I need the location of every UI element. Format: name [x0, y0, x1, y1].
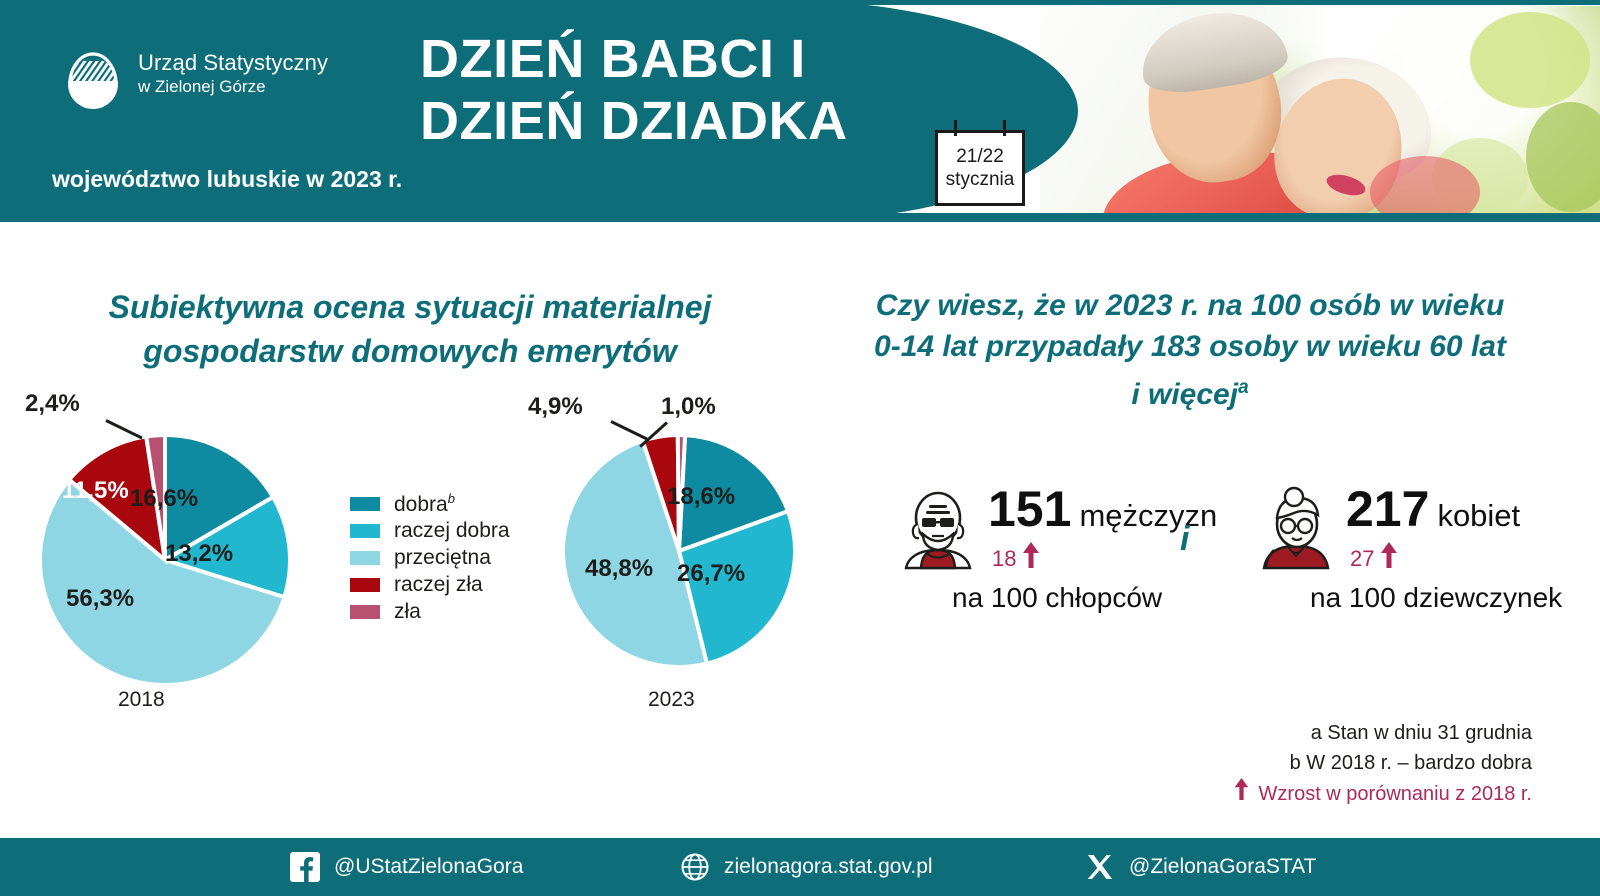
stat-men-sub: na 100 chłopców	[952, 582, 1162, 614]
right-panel-title-line3-text: i więcej	[1131, 378, 1238, 411]
pie-label-zła: 1,0%	[661, 393, 716, 421]
elderly-couple-photo	[1040, 6, 1600, 216]
right-panel-title-line2: 0-14 lat przypadały 183 osoby w wieku 60…	[840, 326, 1540, 367]
pie-chart-2018: 16,6%13,2%56,3%11,5%2,4%	[40, 435, 290, 685]
pie-label-przeciętna: 48,8%	[585, 555, 653, 583]
legend-swatch-icon	[350, 551, 380, 565]
pie-label-przeciętna: 56,3%	[66, 585, 134, 613]
footnote-marker-a: a	[1238, 377, 1249, 398]
legend-item-1: raczej dobra	[350, 517, 510, 544]
header-bottom-rule	[0, 213, 1600, 222]
left-panel-title-line1: Subiektywna ocena sytuacji materialnej	[60, 285, 760, 329]
pie-svg	[563, 435, 795, 667]
calendar-date: 21/22	[938, 145, 1022, 168]
page-title: DZIEŃ BABCI I DZIEŃ DZIADKA	[420, 28, 980, 152]
right-panel-title-line3: i więceja	[840, 367, 1540, 415]
pie-label-dobra: 18,6%	[667, 483, 735, 511]
stat-women-number: 217	[1346, 481, 1429, 537]
legend-item-0: dobrab	[350, 490, 510, 517]
pie-legend: dobrabraczej dobraprzeciętnaraczej złazł…	[350, 490, 510, 625]
footer-facebook[interactable]: @UStatZielonaGora	[290, 838, 523, 896]
footer-website[interactable]: zielonagora.stat.gov.pl	[680, 838, 933, 896]
stat-joiner: i	[1180, 520, 1189, 559]
right-panel-title: Czy wiesz, że w 2023 r. na 100 osób w wi…	[840, 285, 1540, 415]
footer-x[interactable]: @ZielonaGoraSTAT	[1085, 838, 1316, 896]
legend-label: raczej zła	[394, 573, 483, 597]
legend-swatch-icon	[350, 578, 380, 592]
pie-label-dobra: 16,6%	[130, 485, 198, 513]
footnote-arrow-text: Wzrost w porównaniu z 2018 r.	[1259, 779, 1532, 809]
stat-men-number: 151	[988, 481, 1071, 537]
pie-chart-2023: 18,6%26,7%48,8%4,9%1,0%	[563, 435, 795, 667]
stat-men-unit: mężczyzn	[1071, 498, 1217, 533]
legend-swatch-icon	[350, 497, 380, 511]
stat-women-delta-value: 27	[1350, 546, 1374, 571]
legend-label: raczej dobra	[394, 519, 510, 543]
footnote-arrow-note: Wzrost w porównaniu z 2018 r.	[1233, 778, 1532, 809]
footnote-b: b W 2018 r. – bardzo dobra	[1233, 748, 1532, 778]
pie-2018-year: 2018	[118, 688, 165, 712]
logo-title: Urząd Statystyczny	[138, 50, 328, 76]
pie-label-raczej-dobra: 13,2%	[165, 540, 233, 568]
footer-x-label: @ZielonaGoraSTAT	[1129, 855, 1316, 879]
grandmother-icon	[1254, 484, 1338, 570]
basket-logo-icon	[62, 44, 124, 112]
stat-women-sub: na 100 dziewczynek	[1310, 582, 1562, 614]
header: Urząd Statystyczny w Zielonej Górze woje…	[0, 0, 1600, 222]
x-twitter-icon	[1085, 852, 1115, 882]
logo-subtitle: w Zielonej Górze	[138, 76, 328, 98]
stat-women-delta: 27	[1350, 542, 1380, 572]
footer: @UStatZielonaGora zielonagora.stat.gov.p…	[0, 838, 1600, 896]
logo: Urząd Statystyczny w Zielonej Górze	[62, 44, 342, 116]
pie-label-raczej-dobra: 26,7%	[677, 560, 745, 588]
pie-label-raczej-zła: 4,9%	[528, 393, 583, 421]
left-panel-title-line2: gospodarstw domowych emerytów	[60, 329, 760, 373]
infographic-page: Urząd Statystyczny w Zielonej Górze woje…	[0, 0, 1600, 896]
legend-label: dobrab	[394, 491, 455, 517]
page-title-line2: DZIEŃ DZIADKA	[420, 90, 980, 152]
legend-item-3: raczej zła	[350, 571, 510, 598]
left-panel-title: Subiektywna ocena sytuacji materialnej g…	[60, 285, 760, 373]
stat-women-unit: kobiet	[1429, 498, 1520, 533]
pie-label-raczej-zła: 11,5%	[62, 477, 129, 505]
right-panel-title-line1: Czy wiesz, że w 2023 r. na 100 osób w wi…	[840, 285, 1540, 326]
legend-item-4: zła	[350, 598, 510, 625]
footnotes: a Stan w dniu 31 grudnia b W 2018 r. – b…	[1233, 718, 1532, 809]
calendar-icon: 21/22 stycznia	[935, 130, 1025, 206]
pie-2023-year: 2023	[648, 688, 695, 712]
legend-item-2: przeciętna	[350, 544, 510, 571]
footnote-a: a Stan w dniu 31 grudnia	[1233, 718, 1532, 748]
legend-swatch-icon	[350, 524, 380, 538]
header-subtitle: województwo lubuskie w 2023 r.	[52, 166, 402, 193]
stat-men-delta: 18	[992, 542, 1022, 572]
page-title-line1: DZIEŃ BABCI I	[420, 28, 980, 90]
legend-swatch-icon	[350, 605, 380, 619]
stat-men-delta-value: 18	[992, 546, 1016, 571]
legend-label: przeciętna	[394, 546, 491, 570]
legend-label: zła	[394, 600, 421, 624]
pie-label-zła: 2,4%	[25, 390, 80, 418]
footer-facebook-label: @UStatZielonaGora	[334, 855, 523, 879]
arrow-up-icon	[1233, 778, 1250, 809]
header-top-rule	[0, 0, 1600, 5]
calendar-month: stycznia	[938, 168, 1022, 191]
stat-women-main: 217kobiet	[1346, 480, 1520, 538]
globe-icon	[680, 852, 710, 882]
footer-website-label: zielonagora.stat.gov.pl	[724, 855, 933, 879]
grandfather-icon	[896, 484, 980, 570]
facebook-icon	[290, 852, 320, 882]
